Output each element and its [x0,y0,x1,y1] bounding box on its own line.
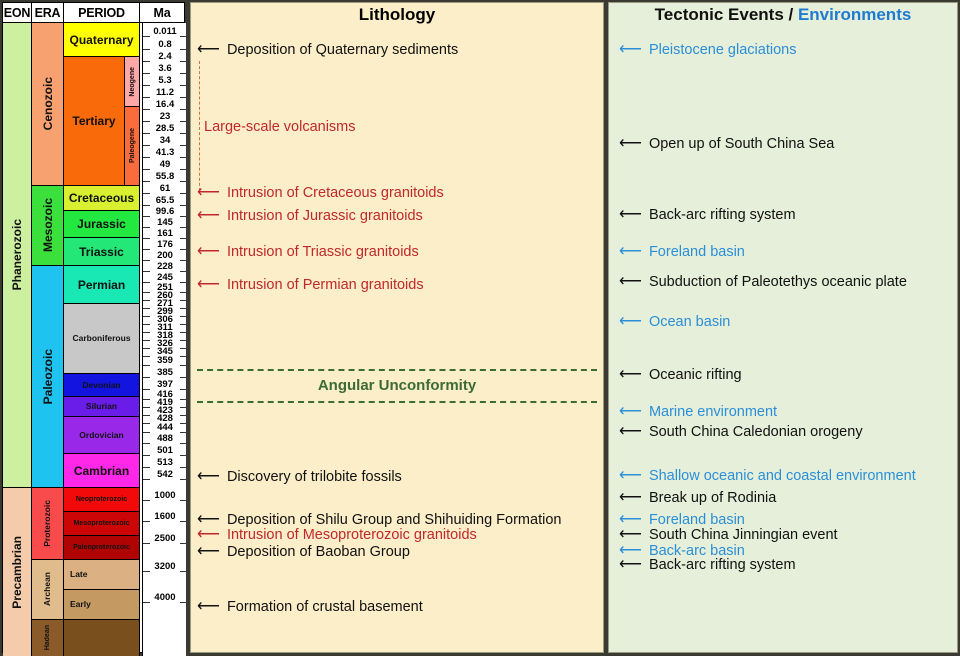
ma-tick-mark [180,543,187,544]
band-label: Cambrian [74,465,129,477]
header-ma: Ma [140,3,184,23]
ma-tick-mark [180,216,187,217]
ma-tick-label: 49 [159,160,172,169]
ma-tick-mark [180,227,187,228]
ma-tick-label: 385 [156,368,174,377]
ma-tick-label: 488 [156,434,174,443]
event-item: ⟵Pleistocene glaciations [619,42,796,58]
band-mesoproterozoic: Mesoproterozoic [64,512,140,536]
left-arrow-icon: ⟵ [619,42,642,58]
ma-tick-label: 2.4 [157,52,172,61]
event-label: Intrusion of Cretaceous granitoids [227,186,444,201]
ma-tick-mark [143,407,150,408]
band-jurassic: Jurassic [64,211,140,238]
ma-tick-label: 34 [159,136,172,145]
event-label: Oceanic rifting [649,368,742,383]
event-label: Back-arc rifting system [649,558,796,573]
ma-tick-mark [143,571,150,572]
ma-tick-mark [143,49,150,50]
band-neogene: Neogene [125,57,140,107]
band-paleoproterozoic: Paleoproterozoic [64,536,140,560]
band-cretaceous: Cretaceous [64,186,140,211]
ma-tick-mark [180,316,187,317]
event-item: ⟵Break up of Rodinia [619,490,776,506]
band-label: Cretaceous [69,192,134,204]
ma-tick-label: 99.6 [155,207,176,216]
ma-tick-mark [180,193,187,194]
band-label: Precambrian [11,536,23,609]
event-item: ⟵Intrusion of Permian granitoids [197,277,424,293]
left-arrow-icon: ⟵ [619,404,642,420]
left-arrow-icon: ⟵ [197,544,220,560]
lithology-panel: Lithology ⟵Deposition of Quaternary sedi… [190,2,604,653]
ma-tick-label: 228 [156,262,174,271]
event-item: ⟵Deposition of Shilu Group and Shihuidin… [197,512,561,528]
ma-tick-mark [180,407,187,408]
ma-tick-mark [143,133,150,134]
ma-tick-label: 28.5 [155,124,176,133]
event-label: Discovery of trilobite fossils [227,470,402,485]
ma-tick-mark [143,300,150,301]
ma-tick-mark [180,340,187,341]
ma-tick-mark [143,415,150,416]
event-label: Large-scale volcanisms [204,120,356,135]
event-label: Foreland basin [649,513,745,528]
ma-tick-mark [143,348,150,349]
event-label: Foreland basin [649,245,745,260]
band-cenozoic: Cenozoic [32,23,64,186]
ma-tick-mark [143,432,150,433]
geologic-timescale-figure: EON ERA PERIOD Ma PhanerozoicPrecambrian… [0,0,960,655]
event-item: ⟵Formation of crustal basement [197,599,423,615]
ma-tick-mark [180,300,187,301]
band-label: Ordovician [79,431,123,440]
band-hadean: Hadean [32,620,64,656]
ma-tick-label: 55.8 [155,172,176,181]
ma-axis: 0.0110.82.43.65.311.216.42328.53441.3495… [142,23,186,656]
ma-tick-mark [180,133,187,134]
ma-tick-mark [180,157,187,158]
ma-tick-mark [143,205,150,206]
ma-tick-mark [180,467,187,468]
band-label: Neoproterozoic [76,496,127,503]
band-label: Quaternary [69,34,133,46]
lithology-title: Lithology [191,5,603,25]
event-label: Open up of South China Sea [649,137,834,152]
tectonic-title-blue: Environments [798,5,911,24]
band-label: Archean [43,572,52,606]
ma-tick-mark [143,365,150,366]
band-label: Proterozoic [43,500,52,547]
ma-tick-mark [143,316,150,317]
ma-tick-label: 245 [156,273,174,282]
ma-tick-mark [180,432,187,433]
event-label: Break up of Rodinia [649,491,776,506]
event-label: Shallow oceanic and coastal environment [649,469,916,484]
ma-tick-label: 4000 [153,593,176,602]
ma-tick-mark [143,238,150,239]
left-arrow-icon: ⟵ [197,599,220,615]
ma-tick-mark [180,443,187,444]
ma-tick-mark [180,308,187,309]
event-label: Deposition of Baoban Group [227,545,410,560]
ma-tick-mark [143,227,150,228]
left-arrow-icon: ⟵ [197,244,220,260]
ma-tick-mark [143,521,150,522]
band-label: Neogene [129,67,136,97]
ma-tick-mark [143,467,150,468]
ma-tick-mark [180,61,187,62]
tectonic-title: Tectonic Events / Environments [609,5,957,25]
band-mesozoic: Mesozoic [32,186,64,266]
ma-tick-label: 501 [156,446,174,455]
header-era: ERA [32,3,64,23]
event-label: Marine environment [649,405,777,420]
ma-tick-label: 513 [156,458,174,467]
ma-tick-label: 61 [159,184,172,193]
left-arrow-icon: ⟵ [619,244,642,260]
ma-tick-mark [143,308,150,309]
ma-tick-mark [180,571,187,572]
unconformity-line-top [197,369,597,371]
ma-tick-mark [143,423,150,424]
event-label: South China Jinningian event [649,528,838,543]
ma-tick-label: 5.3 [157,76,172,85]
left-arrow-icon: ⟵ [197,42,220,58]
band-archean: Archean [32,560,64,620]
event-item: ⟵Intrusion of Mesoproterozoic granitoids [197,527,477,543]
ma-tick-mark [143,121,150,122]
event-label: South China Caledonian orogeny [649,425,863,440]
ma-tick-label: 0.011 [152,27,177,36]
ma-tick-mark [180,389,187,390]
ma-tick-label: 176 [156,240,174,249]
band-label: Paleoproterozoic [73,544,130,551]
event-item: ⟵Back-arc rifting system [619,207,796,223]
band-label: Carboniferous [72,334,130,343]
left-arrow-icon: ⟵ [197,277,220,293]
event-label: Deposition of Quaternary sediments [227,43,458,58]
event-item: ⟵Foreland basin [619,244,745,260]
band-silurian: Silurian [64,397,140,417]
event-label: Formation of crustal basement [227,600,423,615]
ma-tick-label: 161 [156,229,174,238]
left-arrow-icon: ⟵ [619,557,642,573]
event-item: ⟵Ocean basin [619,314,730,330]
left-arrow-icon: ⟵ [619,207,642,223]
band-label: Jurassic [77,218,126,230]
band-triassic: Triassic [64,238,140,266]
event-item: ⟵Deposition of Quaternary sediments [197,42,458,58]
ma-tick-mark [143,216,150,217]
band-label: Mesozoic [42,198,54,252]
ma-tick-mark [180,85,187,86]
ma-tick-mark [180,356,187,357]
band-label: Silurian [86,402,117,411]
ma-tick-mark [143,324,150,325]
event-item: ⟵Discovery of trilobite fossils [197,469,402,485]
left-arrow-icon: ⟵ [197,185,220,201]
event-item: ⟵Back-arc rifting system [619,557,796,573]
band-label: Tertiary [72,115,115,127]
band-phanerozoic: Phanerozoic [3,23,32,488]
ma-tick-mark [143,292,150,293]
left-arrow-icon: ⟵ [619,314,642,330]
event-item: ⟵Oceanic rifting [619,367,742,383]
left-arrow-icon: ⟵ [619,136,642,152]
ma-tick-mark [143,332,150,333]
ma-tick-label: 2500 [153,534,176,543]
ma-tick-mark [143,260,150,261]
ma-tick-mark [143,479,150,480]
band-proterozoic: Proterozoic [32,488,64,560]
band-tertiary: Tertiary [64,57,125,186]
ma-tick-label: 0.8 [157,40,172,49]
ma-tick-mark [143,193,150,194]
ma-tick-label: 3.6 [157,64,172,73]
ma-tick-label: 41.3 [155,148,176,157]
ma-tick-label: 11.2 [155,88,175,97]
ma-tick-mark [180,602,187,603]
band-label: Devonian [82,381,120,390]
ma-tick-mark [180,377,187,378]
ma-tick-mark [143,97,150,98]
left-arrow-icon: ⟵ [619,527,642,543]
ma-tick-mark [143,500,150,501]
ma-tick-mark [143,157,150,158]
event-label: Intrusion of Jurassic granitoids [227,209,423,224]
ma-tick-mark [143,356,150,357]
event-item: ⟵Intrusion of Triassic granitoids [197,244,419,260]
event-item: ⟵Open up of South China Sea [619,136,834,152]
band-label: Paleogene [129,128,136,163]
unconformity-line-bottom [197,401,597,403]
band-label: Cenozoic [42,77,54,130]
ma-tick-mark [180,292,187,293]
event-item: ⟵Intrusion of Cretaceous granitoids [197,185,444,201]
ma-tick-mark [180,348,187,349]
event-item: Large-scale volcanisms [197,120,356,135]
ma-tick-label: 359 [156,356,174,365]
ma-tick-mark [180,249,187,250]
ma-tick-mark [143,169,150,170]
ma-tick-mark [143,85,150,86]
ma-tick-mark [180,479,187,480]
ma-tick-label: 1000 [153,491,176,500]
event-label: Deposition of Shilu Group and Shihuiding… [227,513,562,528]
event-item: ⟵Shallow oceanic and coastal environment [619,468,916,484]
ma-tick-mark [143,73,150,74]
band-carboniferous: Carboniferous [64,304,140,374]
event-label: Ocean basin [649,315,730,330]
band-unlabeled [64,620,140,656]
band-neoproterozoic: Neoproterozoic [64,488,140,512]
ma-tick-mark [143,340,150,341]
band-quaternary: Quaternary [64,23,140,57]
ma-tick-label: 542 [156,470,174,479]
ma-tick-mark [180,521,187,522]
ma-tick-mark [143,282,150,283]
ma-tick-label: 16.4 [155,100,176,109]
band-early: Early [64,590,140,620]
ma-tick-mark [180,97,187,98]
ma-tick-mark [143,145,150,146]
ma-tick-mark [180,282,187,283]
event-label: Subduction of Paleotethys oceanic plate [649,275,907,290]
band-label: Triassic [79,246,124,258]
ma-tick-mark [180,500,187,501]
band-label: Late [64,570,87,579]
ma-tick-mark [180,271,187,272]
header-eon: EON [3,3,32,23]
left-arrow-icon: ⟵ [197,527,220,543]
band-precambrian: Precambrian [3,488,32,656]
ma-tick-mark [143,249,150,250]
ma-tick-mark [143,543,150,544]
ma-tick-mark [180,169,187,170]
ma-tick-mark [180,73,187,74]
band-label: Mesoproterozoic [73,520,129,527]
ma-tick-mark [143,377,150,378]
ma-tick-mark [143,36,150,37]
ma-tick-mark [180,238,187,239]
time-scale-column: EON ERA PERIOD Ma PhanerozoicPrecambrian… [2,2,185,653]
ma-tick-mark [180,415,187,416]
ma-tick-mark [143,181,150,182]
ma-tick-mark [143,455,150,456]
event-item: ⟵Marine environment [619,404,777,420]
event-label: Intrusion of Permian granitoids [227,278,424,293]
ma-tick-mark [180,423,187,424]
band-ordovician: Ordovician [64,417,140,454]
tectonic-title-black: Tectonic Events / [655,5,798,24]
band-label: Early [64,600,91,609]
ma-tick-mark [180,181,187,182]
ma-tick-mark [180,145,187,146]
ma-tick-mark [180,205,187,206]
event-item: ⟵South China Caledonian orogeny [619,424,863,440]
ma-tick-label: 23 [159,112,172,121]
band-devonian: Devonian [64,374,140,397]
ma-tick-label: 65.5 [155,196,176,205]
ma-tick-label: 1600 [153,512,176,521]
left-arrow-icon: ⟵ [619,424,642,440]
event-item: ⟵Intrusion of Jurassic granitoids [197,208,423,224]
left-arrow-icon: ⟵ [197,469,220,485]
band-paleogene: Paleogene [125,107,140,186]
event-label: Intrusion of Mesoproterozoic granitoids [227,528,477,543]
left-arrow-icon: ⟵ [619,367,642,383]
band-label: Phanerozoic [11,219,23,290]
ma-tick-label: 145 [156,218,174,227]
ma-tick-mark [180,332,187,333]
ma-tick-mark [143,389,150,390]
ma-tick-mark [143,443,150,444]
ma-tick-mark [143,109,150,110]
ma-tick-label: 200 [156,251,174,260]
ma-tick-mark [180,455,187,456]
ma-tick-mark [180,324,187,325]
ma-tick-mark [143,271,150,272]
band-cambrian: Cambrian [64,454,140,488]
header-period: PERIOD [64,3,140,23]
ma-tick-mark [143,602,150,603]
event-item: ⟵South China Jinningian event [619,527,838,543]
ma-tick-mark [180,260,187,261]
ma-tick-mark [180,399,187,400]
ma-tick-mark [143,61,150,62]
band-late: Late [64,560,140,590]
event-label: Pleistocene glaciations [649,43,797,58]
band-paleozoic: Paleozoic [32,266,64,488]
ma-tick-label: 444 [156,423,174,432]
ma-tick-label: 3200 [153,562,176,571]
unconformity-label: Angular Unconformity [191,377,603,394]
tectonic-panel: Tectonic Events / Environments ⟵Pleistoc… [608,2,958,653]
event-item: ⟵Subduction of Paleotethys oceanic plate [619,274,907,290]
ma-tick-mark [180,49,187,50]
left-arrow-icon: ⟵ [619,490,642,506]
left-arrow-icon: ⟵ [619,468,642,484]
left-arrow-icon: ⟵ [619,274,642,290]
ma-tick-mark [180,121,187,122]
event-label: Back-arc rifting system [649,208,796,223]
band-label: Hadean [44,625,51,650]
ma-tick-mark [180,365,187,366]
band-label: Permian [78,279,125,291]
event-item: ⟵Deposition of Baoban Group [197,544,410,560]
event-label: Intrusion of Triassic granitoids [227,245,419,260]
ma-tick-mark [180,109,187,110]
ma-tick-mark [180,36,187,37]
ma-tick-mark [143,399,150,400]
band-permian: Permian [64,266,140,304]
ma-tick-label: 397 [156,380,174,389]
left-arrow-icon: ⟵ [197,208,220,224]
period-bands: PhanerozoicPrecambrianCenozoicMesozoicPa… [3,23,140,656]
band-label: Paleozoic [42,349,54,404]
